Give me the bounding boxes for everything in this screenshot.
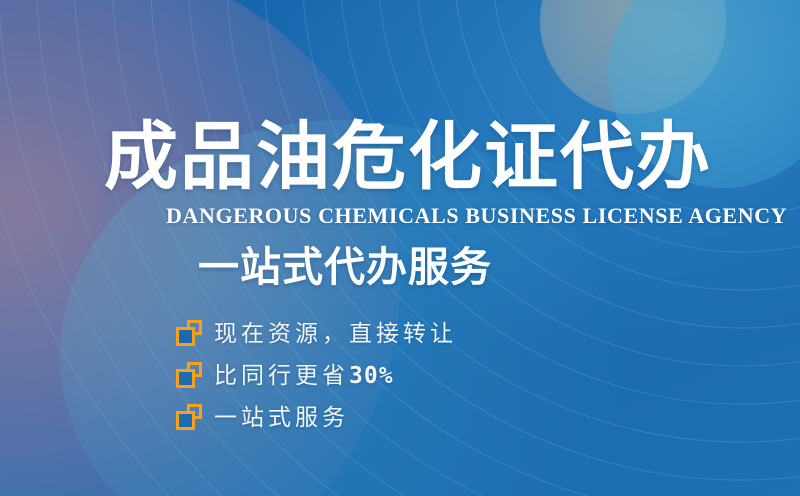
overlapping-squares-icon bbox=[176, 320, 202, 346]
list-item: 比同行更省30% bbox=[176, 354, 457, 396]
overlapping-squares-icon bbox=[176, 404, 202, 430]
english-subheadline-text: DANGEROUS CHEMICALS BUSINESS LICENSE AGE… bbox=[166, 203, 787, 229]
banner-content: 成品油危化证代办 DANGEROUS CHEMICALS BUSINESS LI… bbox=[0, 0, 800, 496]
list-item: 现在资源，直接转让 bbox=[176, 312, 457, 354]
promotional-banner: 成品油危化证代办 DANGEROUS CHEMICALS BUSINESS LI… bbox=[0, 0, 800, 496]
benefits-list: 现在资源，直接转让 比同行更省30% 一站式服务 bbox=[176, 312, 457, 438]
list-item-label-prefix: 比同行更省 bbox=[214, 362, 349, 388]
list-item-label: 一站式服务 bbox=[214, 402, 349, 432]
list-item: 一站式服务 bbox=[176, 396, 457, 438]
chinese-subheadline-text: 一站式代办服务 bbox=[198, 243, 492, 291]
discount-value: 30% bbox=[349, 363, 394, 389]
list-item-label: 比同行更省30% bbox=[214, 360, 394, 391]
headline-text: 成品油危化证代办 bbox=[104, 114, 712, 200]
list-item-label: 现在资源，直接转让 bbox=[214, 318, 457, 348]
overlapping-squares-icon bbox=[176, 362, 202, 388]
